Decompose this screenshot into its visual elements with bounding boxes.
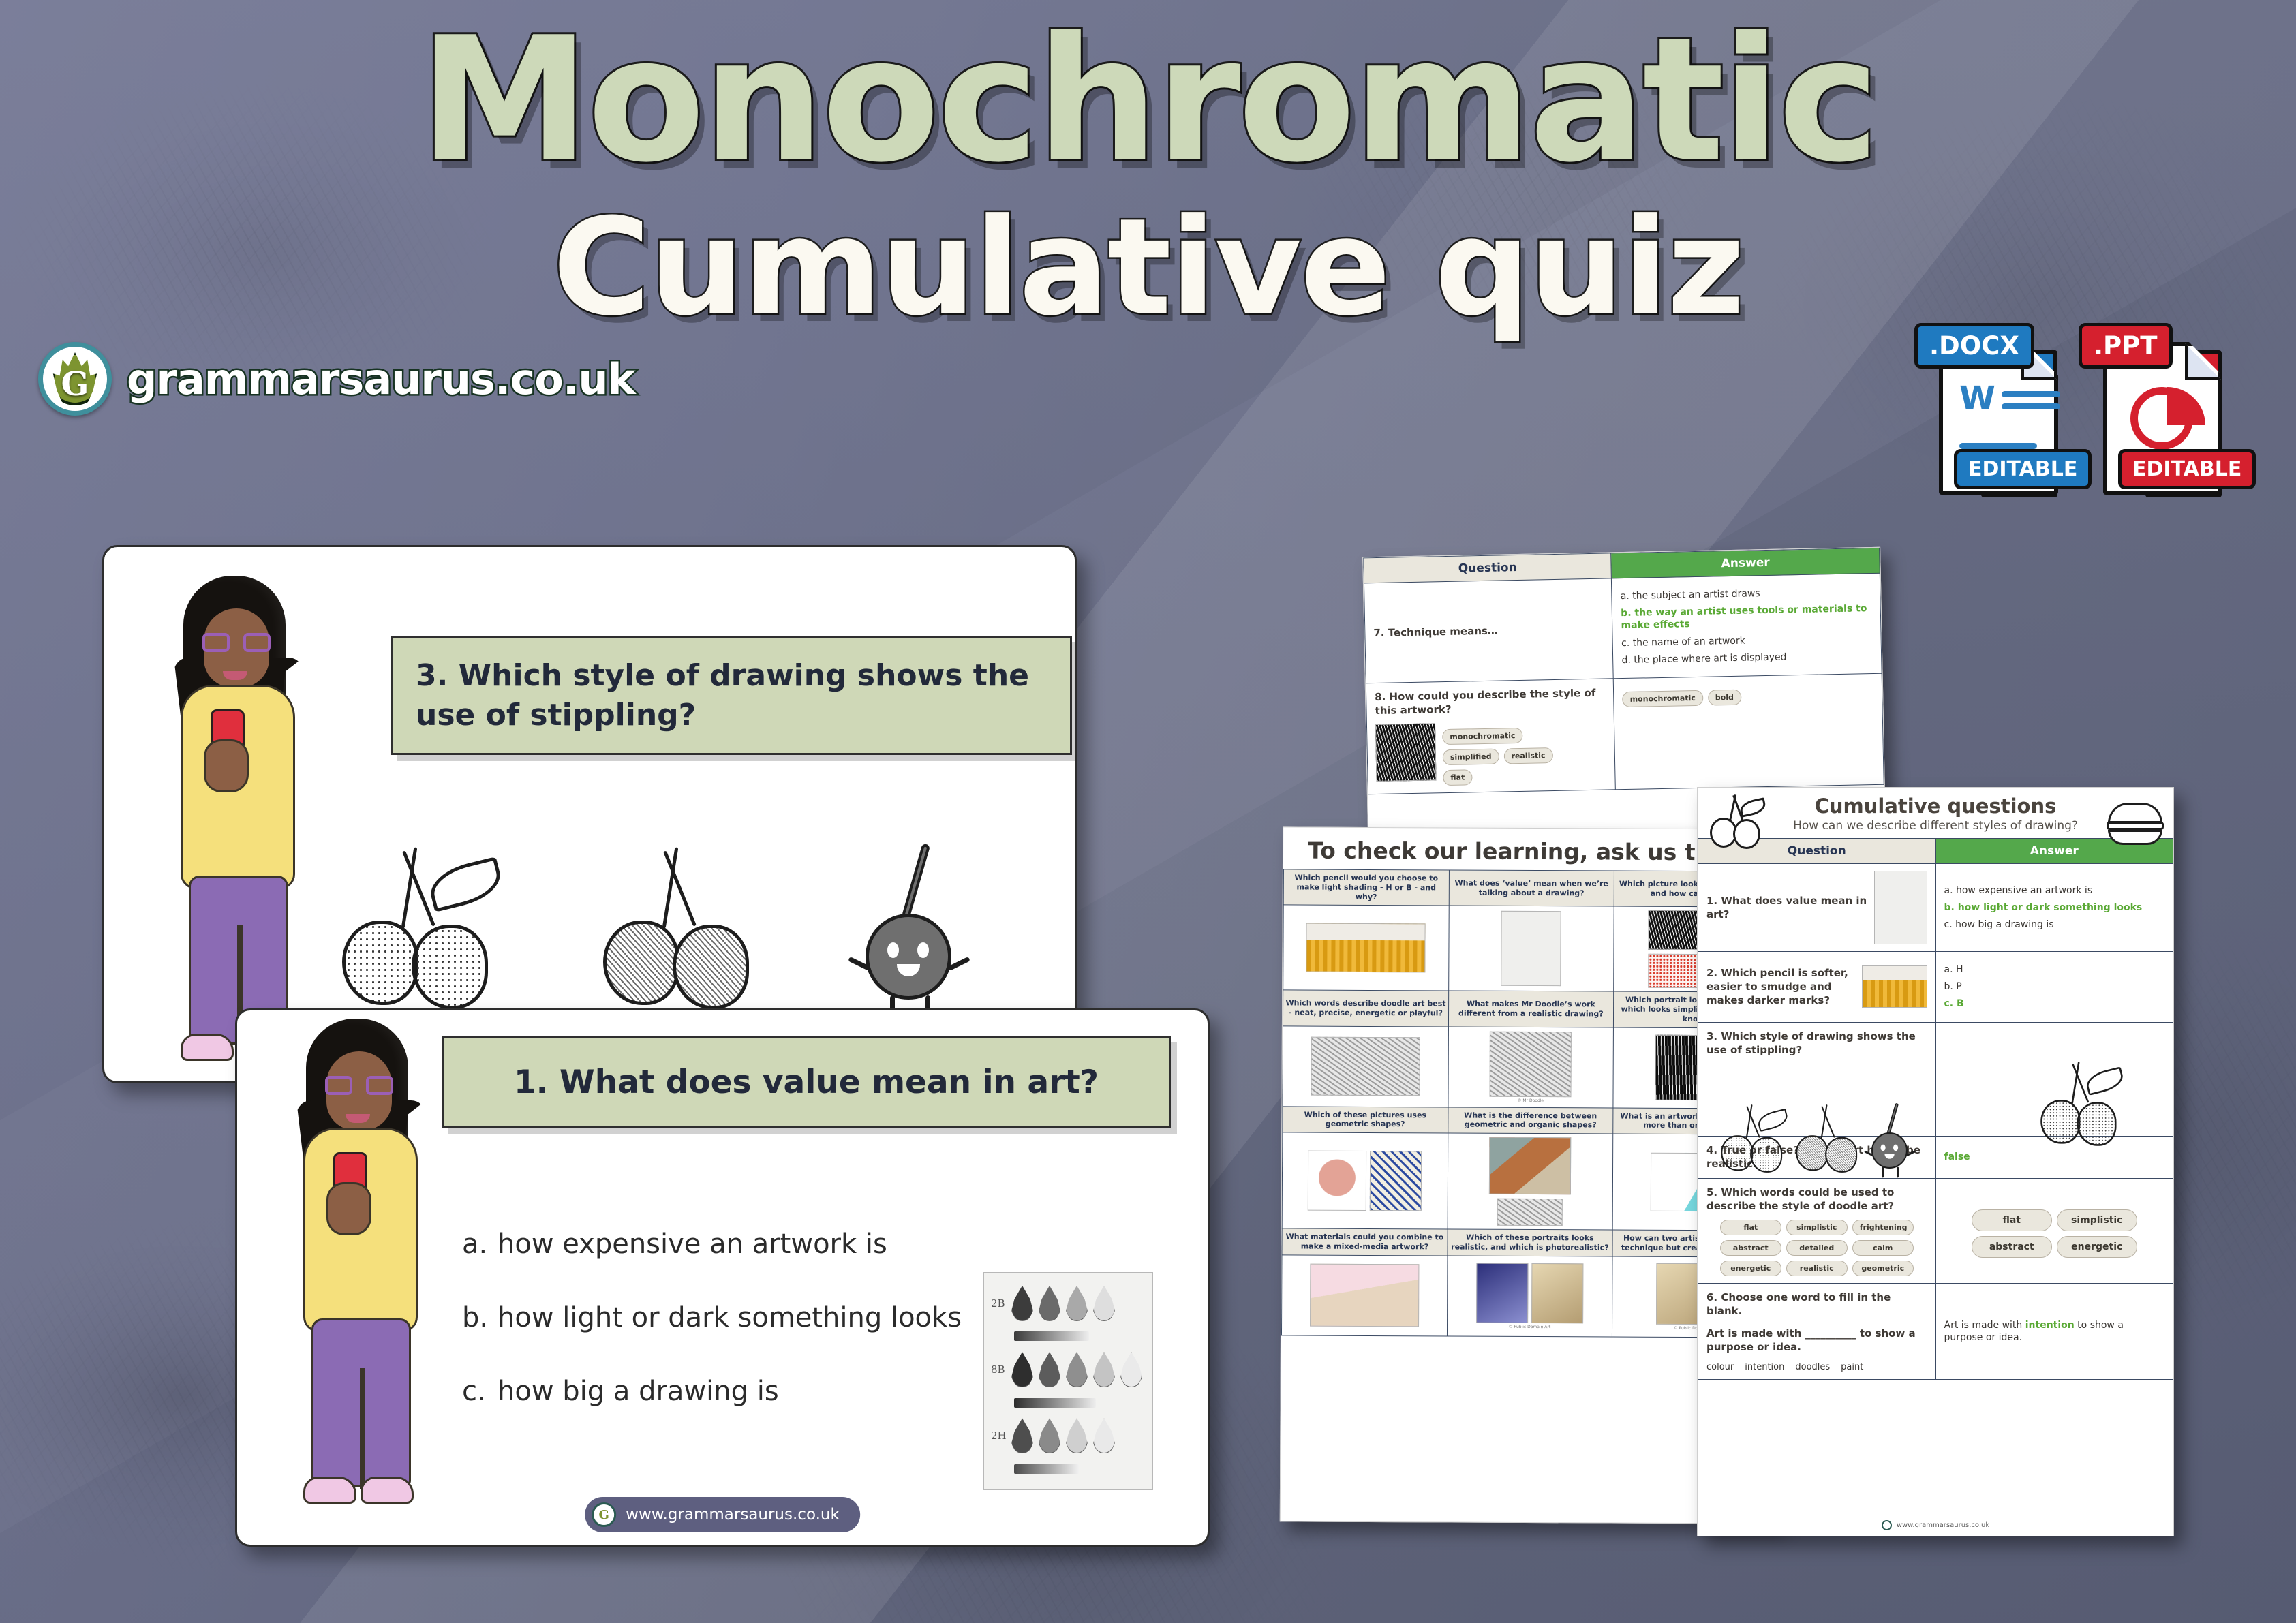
answer-cell: a. how expensive an artwork is b. how li… [1935, 864, 2173, 952]
page-title: Monochromatic [0, 15, 2296, 187]
answer-option-c[interactable]: c.how big a drawing is [462, 1376, 1021, 1407]
option-c-correct: c. B [1944, 998, 2165, 1010]
teacher-character-illustration [268, 1019, 445, 1455]
cherry-style-options [288, 820, 1011, 1031]
value-scale-label: 2H [991, 1429, 1006, 1442]
grid-cell [1448, 906, 1614, 991]
value-scale-label: 8B [991, 1363, 1006, 1376]
value-scale-thumbnail [1501, 911, 1561, 986]
grammarsaurus-logo-icon: G [38, 342, 112, 416]
answer-cell [1935, 1022, 2173, 1137]
burger-decoration-icon [2104, 792, 2167, 849]
option-b-correct: b. the way an artist uses tools or mater… [1621, 602, 1872, 632]
logo-letter: G [61, 365, 89, 403]
chip-option[interactable]: detailed [1786, 1240, 1848, 1256]
cumulative-questions-table: Question Answer 1. What does value mean … [1698, 838, 2173, 1380]
question-text: 6. Choose one word to fill in the blank. [1706, 1290, 1927, 1318]
answer-cell: flat simplistic abstract energetic [1935, 1178, 2173, 1284]
grid-header: What does ‘value’ mean when we’re talkin… [1449, 870, 1614, 906]
cartoon-cherry-icon[interactable] [849, 840, 972, 1010]
doodle-wall-thumbnail [1311, 1037, 1420, 1096]
cumulative-questions-document[interactable]: Cumulative questions How can we describe… [1697, 787, 2174, 1536]
document-header: Cumulative questions How can we describe… [1698, 788, 2173, 838]
image-caption: © Public Domain Art [1451, 1324, 1608, 1329]
chip-option[interactable]: realistic [1786, 1261, 1848, 1276]
cherry-decoration-icon [1704, 792, 1767, 849]
option-c: c. how big a drawing is [1944, 918, 2165, 931]
question-text: 3. Which style of drawing shows the use … [416, 656, 1047, 734]
question-text: 5. Which words could be used to describe… [1706, 1186, 1927, 1214]
chip-option[interactable]: energetic [1720, 1261, 1781, 1276]
option-key: b. [462, 1302, 498, 1333]
grid-cell [1283, 905, 1449, 991]
ppt-editable-tag: EDITABLE [2118, 449, 2256, 489]
chip-option[interactable]: flat [1720, 1220, 1781, 1235]
table-row: 6. Choose one word to fill in the blank.… [1698, 1284, 2173, 1380]
option-a: a. how expensive an artwork is [1944, 884, 2165, 897]
mr-doodle-thumbnail [1490, 1031, 1572, 1097]
chip-option[interactable]: simplistic [1786, 1220, 1848, 1235]
question-cell: 6. Choose one word to fill in the blank.… [1698, 1284, 1936, 1380]
value-scale-thumbnail [1874, 871, 1927, 944]
grid-cell [1448, 1133, 1613, 1230]
word-bank-option[interactable]: doodles [1795, 1362, 1830, 1372]
table-header-row: Question Answer [1698, 839, 2173, 864]
option-text: how light or dark something looks [498, 1302, 962, 1333]
chip-option[interactable]: frightening [1852, 1220, 1914, 1235]
grid-header: Which of these pictures uses geometric s… [1283, 1106, 1448, 1133]
still-life-thumbnail [1489, 1137, 1571, 1195]
word-bank-option[interactable]: colour [1706, 1362, 1734, 1372]
grid-cell [1282, 1132, 1448, 1229]
fill-blank-answer: Art is made with intention to show a pur… [1944, 1319, 2165, 1344]
word-icon: W [1959, 386, 2060, 412]
question-text: 7. Technique means… [1373, 621, 1604, 640]
question-cell: 2. Which pencil is softer, easier to smu… [1698, 952, 1936, 1023]
option-text: how expensive an artwork is [498, 1228, 887, 1260]
grid-header: What materials could you combine to make… [1282, 1228, 1448, 1256]
grid-header: Which pencil would you choose to make li… [1283, 869, 1449, 906]
mixed-media-room-thumbnail [1310, 1264, 1419, 1327]
slide-footer: G www.grammarsaurus.co.uk [585, 1497, 860, 1532]
stippled-cherries-icon [1715, 1102, 1742, 1129]
grid-cell: © Public Domain Art [1447, 1255, 1612, 1336]
grid-header: What is the difference between geometric… [1448, 1107, 1613, 1134]
brand-lockup: G grammarsaurus.co.uk [38, 342, 635, 416]
question-cell: 7. Technique means… [1364, 578, 1613, 683]
value-scale-row: 2B [991, 1286, 1145, 1321]
slide-card-value[interactable]: 1. What does value mean in art? a.how ex… [235, 1008, 1210, 1547]
footer-url: www.grammarsaurus.co.uk [626, 1506, 840, 1524]
word-text-lines-icon [2002, 386, 2060, 409]
poster-root: Monochromatic Cumulative quiz G grammars… [0, 0, 2296, 1623]
question-text: 3. Which style of drawing shows the use … [1706, 1030, 1927, 1057]
table-row: 7. Technique means… a. the subject an ar… [1364, 573, 1882, 683]
stippled-cherries-icon[interactable] [327, 840, 511, 1010]
answer-chip: bold [1708, 690, 1742, 706]
grid-header: What makes Mr Doodle’s work different fr… [1448, 991, 1613, 1027]
ppt-badge[interactable]: .PPT EDITABLE [2088, 327, 2228, 497]
chip-option[interactable]: geometric [1852, 1261, 1914, 1276]
fill-blank-prompt: Art is made with __________ to show a pu… [1706, 1327, 1927, 1355]
chip-option[interactable]: realistic [1503, 747, 1552, 764]
option-b-correct: b. how light or dark something looks [1944, 901, 2165, 914]
sepia-portrait-thumbnail [1531, 1263, 1583, 1323]
answer-option-b[interactable]: b.how light or dark something looks [462, 1302, 1021, 1333]
shaded-cherries-icon[interactable] [588, 840, 772, 1010]
answer-cell: a. H b. P c. B [1935, 952, 2173, 1023]
grid-cell: © Mr Doodle [1448, 1026, 1614, 1107]
chip-option[interactable]: monochromatic [1442, 728, 1523, 745]
question-text: 1. What does value mean in art? [1706, 894, 1867, 922]
docx-editable-tag: EDITABLE [1954, 449, 2092, 489]
value-scale-row: 8B [991, 1352, 1145, 1387]
stippled-cherries-answer-icon [2033, 1058, 2075, 1100]
grid-header: Which words describe doodle art best - n… [1283, 990, 1448, 1026]
question-cell: 1. What does value mean in art? [1698, 864, 1936, 952]
value-scale-row: 2H [991, 1418, 1145, 1453]
word-bank-option[interactable]: intention [1745, 1362, 1784, 1372]
question-cell: 3. Which style of drawing shows the use … [1698, 1022, 1936, 1137]
question-text: 2. Which pencil is softer, easier to smu… [1706, 966, 1855, 1008]
chip-option[interactable]: simplified [1443, 749, 1499, 766]
question-banner: 3. Which style of drawing shows the use … [391, 636, 1072, 755]
pencils-thumbnail [1306, 923, 1426, 973]
question-banner: 1. What does value mean in art? [442, 1036, 1171, 1128]
grid-cell [1281, 1254, 1447, 1335]
table-row: 1. What does value mean in art? a. how e… [1698, 864, 2173, 952]
docx-badge[interactable]: W .DOCX EDITABLE [1924, 327, 2064, 497]
image-caption: © Mr Doodle [1452, 1098, 1609, 1103]
answer-cell: monochromatic bold [1614, 673, 1884, 790]
option-c: c. the name of an artwork [1621, 632, 1873, 649]
option-d: d. the place where art is displayed [1621, 649, 1873, 666]
grid-header: Which of these portraits looks realistic… [1448, 1229, 1612, 1256]
chip-option[interactable]: flat [1443, 770, 1472, 786]
answer-keyword: intention [2025, 1320, 2075, 1331]
answer-chip: flat [1972, 1209, 2052, 1231]
chip-option[interactable]: calm [1852, 1240, 1914, 1256]
grid-cell [1283, 1025, 1448, 1107]
option-key: a. [462, 1228, 498, 1260]
option-text: how big a drawing is [498, 1376, 779, 1407]
table-row: 2. Which pencil is softer, easier to smu… [1698, 952, 2173, 1023]
option-key: c. [462, 1376, 498, 1407]
page-subtitle: Cumulative quiz [0, 201, 2296, 335]
pencils-thumbnail [1862, 965, 1927, 1008]
option-a: a. H [1944, 963, 2165, 976]
answer-cell: Art is made with intention to show a pur… [1935, 1284, 2173, 1380]
answer-option-a[interactable]: a.how expensive an artwork is [462, 1228, 1021, 1260]
blue-portrait-thumbnail [1476, 1263, 1528, 1323]
answer-chip: abstract [1972, 1236, 2052, 1258]
chip-option[interactable]: abstract [1720, 1240, 1781, 1256]
tile-pattern-thumbnail [1370, 1151, 1422, 1211]
question-text: 1. What does value mean in art? [514, 1062, 1099, 1103]
question-text: 8. How could you describe the style of t… [1375, 685, 1606, 717]
answer-chip: simplistic [2057, 1209, 2137, 1231]
answer-chip: monochromatic [1622, 690, 1703, 707]
answer-cell: a. the subject an artist draws b. the wa… [1612, 573, 1882, 678]
answer-text: false [1944, 1151, 2165, 1163]
pencil-value-scale-image: 2B 8B 2H [983, 1272, 1153, 1490]
table-row: 3. Which style of drawing shows the use … [1698, 1022, 2173, 1137]
grammarsaurus-mini-logo-icon: G [592, 1502, 616, 1527]
option-b: b. P [1944, 980, 2165, 993]
word-w-glyph: W [1959, 386, 1995, 412]
word-bank-option[interactable]: paint [1841, 1362, 1863, 1372]
value-scale-label: 2B [991, 1297, 1006, 1310]
answer-options-list: a.how expensive an artwork is b.how ligh… [462, 1228, 1021, 1449]
monochromatic-artwork-thumbnail [1375, 724, 1437, 782]
ppt-format-tag: .PPT [2079, 323, 2173, 369]
slide-card-stippling[interactable]: 3. Which style of drawing shows the use … [102, 545, 1077, 1083]
file-format-badges: W .DOCX EDITABLE .PPT EDITABLE [1924, 327, 2228, 497]
footer-url: www.grammarsaurus.co.uk [1897, 1521, 1989, 1529]
answer-table: Question Answer 7. Technique means… a. t… [1363, 548, 1884, 795]
option-a: a. the subject an artist draws [1621, 585, 1872, 602]
brand-name: grammarsaurus.co.uk [127, 354, 635, 404]
cartoon-cherry-icon [1865, 1102, 1888, 1129]
organic-shape-thumbnail [1497, 1199, 1563, 1226]
docx-format-tag: .DOCX [1914, 323, 2034, 369]
table-row: 5. Which words could be used to describe… [1698, 1178, 2173, 1284]
grammarsaurus-mini-logo-icon [1882, 1520, 1892, 1530]
question-cell: 8. How could you describe the style of t… [1366, 679, 1615, 794]
answer-chip: energetic [2057, 1236, 2137, 1258]
document-footer: www.grammarsaurus.co.uk [1698, 1520, 2173, 1530]
document-subtitle: How can we describe different styles of … [1707, 819, 2164, 833]
question-cell: 5. Which words could be used to describe… [1698, 1178, 1936, 1284]
document-title: Cumulative questions [1707, 794, 2164, 818]
geometric-horse-thumbnail [1308, 1151, 1366, 1211]
shaded-cherries-icon [1790, 1102, 1817, 1129]
table-row: 8. How could you describe the style of t… [1366, 673, 1884, 794]
